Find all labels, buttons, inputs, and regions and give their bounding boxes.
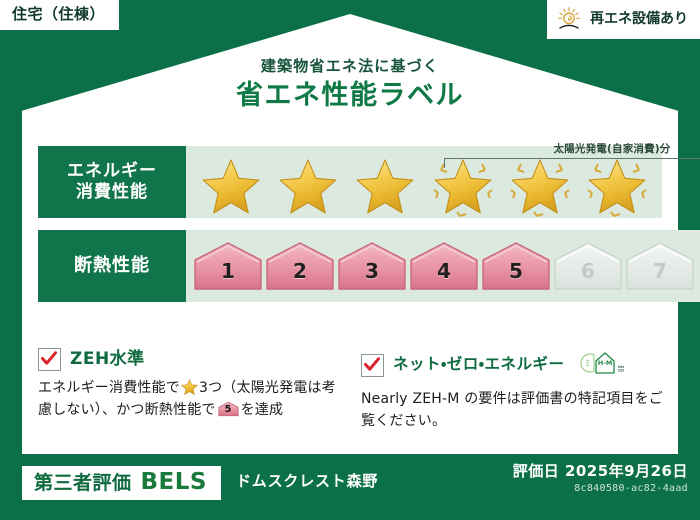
insulation-level-scale: 1 2 3 <box>192 236 696 296</box>
insulation-level-7-value: 7 <box>624 240 696 292</box>
notes-section: ZEH水準 エネルギー消費性能で3つ（太陽光発電は考慮しない）、かつ断熱性能で5… <box>38 348 666 432</box>
evaluation-info: 評価日 2025年9月26日 8c840580-ac82-4aad <box>513 462 688 495</box>
insulation-level-5-value: 5 <box>480 240 552 292</box>
insulation-level-6-value: 6 <box>552 240 624 292</box>
svg-text:ZEH-M: ZEH-M <box>618 369 624 373</box>
insulation-level-7: 7 <box>624 240 696 292</box>
insulation-level-4: 4 <box>408 240 480 292</box>
energy-label-root: 住宅（住棟） 再エネ設備あり 建築物省エネ法に基づく <box>0 0 700 520</box>
energy-performance-label: エネルギー 消費性能 <box>38 146 186 218</box>
footer-bar: 第三者評価 BELS ドムスクレスト森野 評価日 2025年9月26日 8c84… <box>0 458 700 520</box>
note-nze-header: ネット・ゼロ・エネルギー H-M Nearly ZEH-M <box>361 348 666 382</box>
solar-contribution-annotation: 太陽光発電(自家消費)分 <box>444 144 700 168</box>
insulation-performance-row: 断熱性能 <box>38 230 662 302</box>
note-zeh-body: エネルギー消費性能で3つ（太陽光発電は考慮しない）、かつ断熱性能で5を達成 <box>38 378 343 421</box>
insulation-performance-body: 1 2 3 <box>186 230 700 302</box>
performance-rows: エネルギー 消費性能 太陽光発電(自家消費)分 <box>38 146 662 314</box>
building-type-tag: 住宅（住棟） <box>0 0 119 30</box>
insulation-level-6: 6 <box>552 240 624 292</box>
insulation-level-2-value: 2 <box>264 240 336 292</box>
check-icon-nze <box>361 354 384 377</box>
svg-text:H-M: H-M <box>597 359 612 367</box>
bels-jp-label: 第三者評価 <box>34 474 132 493</box>
insulation-label-text: 断熱性能 <box>74 255 150 278</box>
note-zeh-text-stars: 3つ（太陽光発電 <box>199 380 308 396</box>
insulation-level-5: 5 <box>480 240 552 292</box>
note-zeh-text-3: を達成 <box>241 402 284 418</box>
bels-badge: 第三者評価 BELS <box>22 466 221 500</box>
zeh-m-logo-icon: H-M Nearly ZEH-M <box>574 348 624 382</box>
evaluation-id: 8c840580-ac82-4aad <box>513 482 688 495</box>
note-zeh-text-1: エネルギー消費性能で <box>38 380 180 396</box>
note-nze-title: ネット・ゼロ・エネルギー <box>393 357 565 373</box>
note-nze-body: Nearly ZEH-M の要件は評価書の特記項目をご覧ください。 <box>361 389 666 432</box>
sun-icon <box>555 5 583 33</box>
note-net-zero-energy: ネット・ゼロ・エネルギー H-M Nearly ZEH-M <box>361 348 666 432</box>
inline-star-icon <box>181 379 198 395</box>
energy-label-line1: エネルギー <box>67 161 157 182</box>
insulation-level-1: 1 <box>192 240 264 292</box>
energy-label-line2: 消費性能 <box>76 182 148 203</box>
insulation-level-4-value: 4 <box>408 240 480 292</box>
title-subtitle: 建築物省エネ法に基づく <box>0 58 700 75</box>
inline-house-level: 5 <box>218 401 239 417</box>
insulation-level-1-value: 1 <box>192 240 264 292</box>
star-3 <box>350 152 420 218</box>
star-2 <box>273 152 343 218</box>
renewable-energy-tag: 再エネ設備あり <box>547 0 700 39</box>
insulation-level-2: 2 <box>264 240 336 292</box>
title-main: 省エネ性能ラベル <box>0 80 700 111</box>
bels-en-label: BELS <box>141 471 207 494</box>
evaluation-date: 評価日 2025年9月26日 <box>513 462 688 480</box>
insulation-level-3-value: 3 <box>336 240 408 292</box>
building-name: ドムスクレスト森野 <box>236 474 378 489</box>
star-1 <box>196 152 266 218</box>
energy-performance-body: 太陽光発電(自家消費)分 <box>186 146 662 218</box>
insulation-performance-label: 断熱性能 <box>38 230 186 302</box>
renewable-energy-label: 再エネ設備あり <box>590 12 688 26</box>
building-type-label: 住宅（住棟） <box>12 7 105 22</box>
note-zeh-header: ZEH水準 <box>38 348 343 371</box>
label-title-block: 建築物省エネ法に基づく 省エネ性能ラベル <box>0 58 700 111</box>
inline-house-badge-icon: 5 <box>218 401 239 417</box>
note-zeh-title: ZEH水準 <box>70 351 145 368</box>
solar-bracket <box>444 158 700 168</box>
solar-contribution-caption: 太陽光発電(自家消費)分 <box>444 144 700 155</box>
note-zeh-standard: ZEH水準 エネルギー消費性能で3つ（太陽光発電は考慮しない）、かつ断熱性能で5… <box>38 348 343 432</box>
insulation-level-3: 3 <box>336 240 408 292</box>
energy-performance-row: エネルギー 消費性能 太陽光発電(自家消費)分 <box>38 146 662 218</box>
check-icon-zeh <box>38 348 61 371</box>
